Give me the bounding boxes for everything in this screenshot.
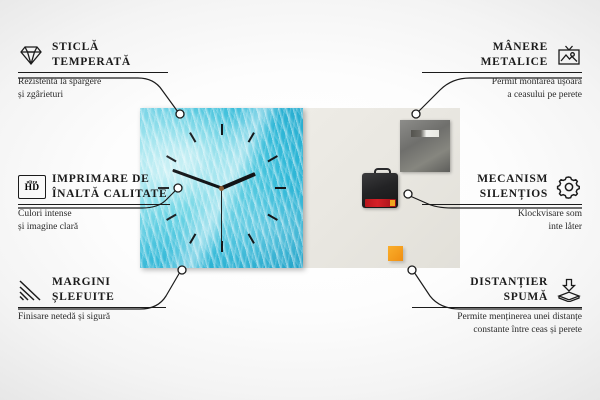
feature-rule (18, 204, 170, 205)
product-image (140, 108, 460, 268)
hanger-slot (411, 130, 439, 137)
feature-head: STICLĂ TEMPERATĂ (18, 40, 168, 69)
feature-subtitle: Rezistentă la spargere și zgârieturi (18, 76, 168, 101)
feature-rule (422, 204, 582, 205)
second-hand (221, 188, 222, 244)
feature-rule (18, 307, 166, 308)
clock-mechanism (362, 168, 398, 208)
diamond-icon (18, 43, 44, 67)
picture-hanger-icon (556, 43, 582, 67)
orange-foam-spacer (388, 246, 403, 261)
feature-subtitle: Permit montarea ușoară a ceasului pe per… (422, 76, 582, 101)
feature-title: MÂNERE METALICE (481, 40, 548, 69)
gear-icon (556, 175, 582, 199)
feature-rule (18, 72, 168, 73)
feature-margini-slefuite: MARGINI ȘLEFUITE Finisare netedă și sigu… (18, 275, 166, 324)
product-infographic: STICLĂ TEMPERATĂ Rezistentă la spargere … (0, 0, 600, 400)
mechanism-body (362, 173, 398, 208)
feature-title: MECANISM SILENȚIOS (477, 172, 548, 201)
feature-mecanism-silentios: MECANISM SILENȚIOS Klockvisare som inte … (422, 172, 582, 234)
feature-title: DISTANȚIER SPUMĂ (470, 275, 548, 304)
feature-title: STICLĂ TEMPERATĂ (52, 40, 131, 69)
feature-title: MARGINI ȘLEFUITE (52, 275, 114, 304)
beveled-edges-icon (18, 278, 44, 302)
aa-battery (365, 199, 396, 207)
feature-head: MARGINI ȘLEFUITE (18, 275, 166, 304)
feature-head: MÂNERE METALICE (422, 40, 582, 69)
feature-head: DISTANȚIER SPUMĂ (412, 275, 582, 304)
foam-spacer-icon (556, 278, 582, 302)
feature-distantier-spuma: DISTANȚIER SPUMĂ Permite menținerea unei… (412, 275, 582, 337)
hour-marker (222, 187, 286, 189)
feature-sticla-temperata: STICLĂ TEMPERATĂ Rezistentă la spargere … (18, 40, 168, 102)
feature-rule (422, 72, 582, 73)
feature-title: IMPRIMARE DE ÎNALTĂ CALITATE (52, 172, 167, 201)
ultra-hd-badge-icon: ultra HD (18, 175, 44, 199)
metal-hanger-plate (400, 120, 450, 172)
feature-subtitle: Klockvisare som inte låter (422, 208, 582, 233)
feature-subtitle: Permite menținerea unei distanțe constan… (412, 311, 582, 336)
feature-head: MECANISM SILENȚIOS (422, 172, 582, 201)
feature-subtitle: Finisare netedă și sigură (18, 311, 166, 324)
feature-imprimare-hd: ultra HD IMPRIMARE DE ÎNALTĂ CALITATE Cu… (18, 172, 170, 234)
feature-head: ultra HD IMPRIMARE DE ÎNALTĂ CALITATE (18, 172, 170, 201)
hands-center-cap (219, 186, 224, 191)
feature-manere-metalice: MÂNERE METALICE Permit montarea ușoară a… (422, 40, 582, 102)
hour-marker (221, 124, 223, 188)
ultra-hd-large-text: HD (25, 184, 40, 194)
battery-positive-tip (390, 200, 395, 206)
feature-subtitle: Culori intense și imagine clară (18, 208, 170, 233)
feature-rule (412, 307, 582, 308)
